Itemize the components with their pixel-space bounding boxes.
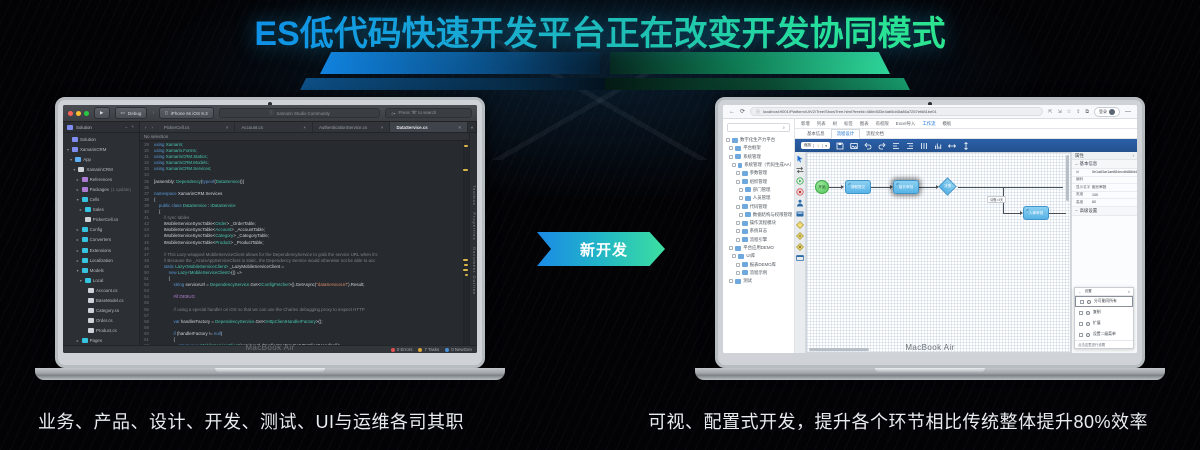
property-value[interactable]: 组长审批 — [1092, 185, 1137, 190]
checkbox-icon[interactable] — [732, 163, 735, 167]
solution-pad-title: Solution — [76, 125, 92, 130]
tree-item[interactable]: Order.cs — [63, 316, 139, 326]
properties-section-basic[interactable]: − 基本信息 — [1072, 160, 1137, 169]
node-label: 人事审批 — [1029, 211, 1043, 216]
file-tab-label: PickerCell.cs — [164, 125, 189, 130]
code-token: { — [154, 209, 160, 214]
module-tab-4[interactable]: 图表 — [860, 121, 869, 127]
code-token: using — [154, 142, 166, 147]
undo-icon[interactable] — [864, 142, 872, 150]
context-menu-items[interactable]: 分可能同所有复制扩展设置二级菜单 — [1075, 296, 1133, 340]
folder-icon — [738, 163, 742, 168]
file-tab-label: AuthenticationService.cs — [319, 125, 367, 130]
property-key: id — [1072, 170, 1092, 174]
chevron-right-icon[interactable]: › — [1133, 153, 1134, 158]
nav-tree-item[interactable]: 流程引擎 — [726, 236, 794, 244]
folder-icon — [742, 229, 748, 234]
radio-icon[interactable] — [1086, 333, 1090, 337]
tree-item[interactable]: ▸References — [63, 174, 139, 184]
gateway-icon[interactable] — [796, 221, 804, 229]
code-token: { — [154, 337, 175, 342]
checkbox-icon[interactable] — [1079, 322, 1083, 326]
nav-tree-label: 测试 — [743, 278, 752, 284]
sub-tab-2[interactable]: 流程文档 — [860, 129, 890, 139]
redo-icon[interactable] — [878, 142, 886, 150]
distribute-center-icon[interactable] — [948, 142, 956, 150]
gateway-cross-icon[interactable] — [796, 243, 804, 251]
nav-tree-item[interactable]: 测试 — [726, 277, 794, 285]
distribute-horizontal-icon[interactable] — [920, 142, 928, 150]
folder-icon — [85, 207, 91, 212]
tree-item[interactable]: Solution — [63, 134, 139, 144]
tree-item[interactable]: ▾Cells — [63, 195, 139, 205]
tree-item[interactable]: ▸Extensions — [63, 245, 139, 255]
checkbox-icon[interactable] — [739, 213, 743, 217]
reload-icon[interactable]: ⟳ — [740, 108, 745, 115]
solution-pad-header: Solution ⌄ × — [63, 122, 140, 132]
align-bars-icon[interactable] — [934, 142, 942, 150]
edge-mgr-gateway — [919, 187, 937, 188]
checkbox-icon[interactable] — [736, 238, 740, 242]
module-tab-1[interactable]: 列表 — [817, 121, 826, 127]
ide-window: ▶ ▭ Debug › ▯ iPhone 6s iOS 9.3 ⓘ Xamari… — [63, 105, 477, 353]
avatar — [1109, 109, 1115, 115]
code-token: IConfigFetcher — [260, 282, 289, 287]
section-label: 基本信息 — [1080, 161, 1098, 167]
file-tab-label: DataService.cs — [396, 125, 427, 130]
close-icon[interactable]: × — [226, 125, 229, 130]
pen-alt-icon[interactable]: ⇲ — [1058, 109, 1062, 115]
checkbox-icon[interactable] — [729, 155, 733, 159]
tree-item[interactable]: Product.cs — [63, 326, 139, 336]
tree-item[interactable]: ▾App — [63, 154, 139, 164]
back-icon[interactable]: ← — [1078, 290, 1082, 294]
nav-tree-label: 平台应用DEMO — [743, 245, 774, 251]
back-icon[interactable]: ← — [729, 109, 735, 115]
designer-area: 请假>3天 开始 ☍ 请假提交 ☍ — [795, 152, 1137, 353]
checkbox-icon[interactable] — [736, 180, 740, 184]
module-tab-6[interactable]: Excel导入 — [896, 121, 916, 127]
checkbox-icon[interactable] — [736, 205, 740, 209]
radio-icon[interactable] — [1086, 322, 1090, 326]
profile-label: 登录 — [1099, 109, 1107, 115]
folder-icon — [82, 227, 88, 232]
context-menu-item-label: 复制 — [1093, 310, 1101, 315]
code-token: null — [214, 331, 221, 336]
arrowhead-icon — [841, 185, 844, 189]
nav-tree-item[interactable]: 系统日志 — [726, 227, 794, 235]
module-tab-3[interactable]: 标签 — [844, 121, 853, 127]
checkbox-icon[interactable] — [736, 271, 740, 275]
minimize-icon[interactable] — [76, 111, 81, 116]
configuration-selector[interactable]: ▭ Debug — [115, 107, 148, 119]
module-tab-bar[interactable]: 新增列表树标签图表有权限Excel导入工作流模板 — [795, 119, 1137, 129]
code-token: (() => — [231, 270, 242, 275]
code-token: handlerFactory = — [181, 319, 215, 324]
phone-icon: ▯ — [165, 110, 168, 116]
window-controls[interactable] — [68, 111, 89, 116]
module-tab-7[interactable]: 工作流 — [922, 121, 935, 127]
tree-item[interactable]: ▾XamarinCRM — [63, 164, 139, 174]
nav-tree-label: 数字化生产力平台 — [740, 137, 775, 143]
pad-buttons[interactable]: ⌄ × — [125, 124, 135, 130]
context-menu-item-3[interactable]: 设置二级菜单 — [1075, 329, 1133, 340]
tree-item[interactable]: ▾Models — [63, 265, 139, 275]
star-icon[interactable]: ☆ — [1067, 109, 1071, 115]
nav-tree-item[interactable]: 人员管理 — [726, 194, 794, 202]
code-token: static — [154, 264, 175, 269]
align-right-icon[interactable] — [906, 142, 914, 150]
code-token: // sync tables — [154, 215, 189, 220]
twisty-icon[interactable]: ▾ — [66, 147, 70, 152]
module-tab-2[interactable]: 树 — [833, 121, 837, 127]
code-token: Lazy<MobileServiceClient> — [178, 270, 231, 275]
nav-tree-item[interactable]: 系统管理（代码生成AA） — [726, 161, 794, 169]
checkbox-icon[interactable] — [1079, 333, 1083, 337]
shape-tool-rail[interactable] — [795, 152, 806, 353]
checkbox-icon[interactable] — [726, 138, 730, 142]
tab-overflow-button[interactable]: » — [468, 122, 477, 132]
property-value[interactable]: 60 — [1092, 200, 1137, 204]
laptop-left: ▶ ▭ Debug › ▯ iPhone 6s iOS 9.3 ⓘ Xamari… — [55, 97, 485, 380]
nav-tree-item[interactable]: 系统管理 — [726, 153, 794, 161]
property-value[interactable]: 100 — [1092, 193, 1137, 197]
nav-back-icon[interactable]: ‹ — [145, 125, 146, 130]
save-icon[interactable] — [836, 142, 844, 150]
workflow-node-hr-approval[interactable]: ☍ 人事审批 — [1023, 206, 1049, 220]
tree-item-label: Product.cs — [96, 328, 117, 333]
property-row[interactable]: 显示名字组长审批 — [1072, 184, 1137, 192]
tree-item-label: Solution — [80, 137, 96, 142]
property-row[interactable]: 编码 — [1072, 177, 1137, 185]
browser-chrome: ← ⟳ ⓘ localhost:9001/Platform/UIV2/Tree/… — [723, 105, 1137, 119]
chevron-down-icon[interactable]: ▾ — [825, 144, 827, 148]
nav-tree-label: 流程示例 — [750, 270, 768, 276]
checkbox-icon[interactable] — [729, 279, 733, 283]
nav-tree-item[interactable]: 数据结构与权限管理 — [726, 211, 794, 219]
context-menu-item-2[interactable]: 扩展 — [1075, 318, 1133, 329]
search-input[interactable]: ⌕▾ Press '⌘' to search — [385, 108, 472, 118]
edge-gateway-end — [958, 187, 1063, 188]
site-info-icon[interactable]: ⓘ — [756, 109, 760, 115]
sub-tab-0[interactable]: 基本信息 — [801, 129, 831, 139]
code-token: using — [154, 154, 166, 159]
tree-item-label: Converters — [90, 237, 111, 242]
ide-toolbar: ▶ ▭ Debug › ▯ iPhone 6s iOS 9.3 ⓘ Xamari… — [63, 105, 477, 122]
tree-item[interactable]: ▸Sales — [63, 205, 139, 215]
nav-tree-item[interactable]: 平台应用DEMO — [726, 244, 794, 252]
workflow-node-gateway[interactable]: 决策 — [938, 177, 956, 195]
twisty-icon[interactable]: ▸ — [76, 258, 80, 263]
browser-window: ← ⟳ ⓘ localhost:9001/Platform/UIV2/Tree/… — [723, 105, 1137, 353]
url-input[interactable]: ⓘ localhost:9001/Platform/UIV2/Tree/Show… — [750, 107, 1043, 116]
nav-tree-item[interactable]: 参数管理 — [726, 169, 794, 177]
file-icon — [88, 328, 94, 333]
code-token: using — [154, 160, 166, 165]
twisty-icon[interactable]: ▾ — [76, 197, 80, 202]
nav-tree-item[interactable]: 代码管理 — [726, 202, 794, 210]
code-token: namespace — [154, 191, 178, 196]
workflow-node-start[interactable]: 开始 — [815, 180, 829, 194]
user-icon: ☍ — [1026, 208, 1029, 212]
close-icon[interactable] — [68, 111, 73, 116]
folder-icon — [742, 179, 748, 184]
tree-item[interactable]: ▾Local — [63, 275, 139, 285]
caption-left: 业务、产品、设计、开发、测试、UI与运维各司其职 — [38, 408, 464, 434]
run-button[interactable]: ▶ — [94, 107, 110, 119]
tree-item[interactable]: ▸Converters — [63, 235, 139, 245]
align-vertical-icon[interactable] — [962, 142, 970, 150]
module-tab-5[interactable]: 有权限 — [876, 121, 889, 127]
checkbox-icon[interactable] — [739, 196, 743, 200]
property-row[interactable]: 高度60 — [1072, 199, 1137, 207]
line-number-gutter: 2930313233343536373839404142434445464748… — [140, 141, 151, 345]
image-icon[interactable] — [850, 142, 858, 150]
code-token: if — [154, 331, 177, 336]
maximize-icon[interactable] — [84, 111, 89, 116]
cursor-icon[interactable] — [796, 155, 804, 163]
nav-tree-label: 参数管理 — [750, 170, 768, 176]
share-icon[interactable]: ⇪ — [1076, 109, 1080, 115]
nav-tree-item[interactable]: 组织管理 — [726, 177, 794, 185]
file-tab-2[interactable]: AuthenticationService.cs× — [313, 122, 391, 132]
nav-tree-item[interactable]: UI库 — [726, 252, 794, 260]
property-key: 编码 — [1072, 177, 1092, 182]
twisty-icon[interactable]: ▸ — [79, 207, 83, 212]
device-selector[interactable]: ▯ iPhone 6s iOS 9.3 — [159, 107, 214, 119]
nav-tree-label: 代码管理 — [750, 204, 768, 210]
context-menu-header: ← 设置 × — [1075, 288, 1133, 296]
collapse-icon[interactable]: − — [1075, 208, 1078, 213]
checkbox-icon[interactable] — [1080, 300, 1084, 304]
radio-icon[interactable] — [1086, 311, 1090, 315]
code-token: DataService — [216, 179, 240, 184]
close-icon[interactable]: × — [458, 125, 461, 130]
collapse-icon[interactable]: − — [1075, 162, 1078, 167]
zoom-control[interactable]: 缩放 1 ▾ — [801, 142, 830, 149]
context-menu-item-label: 分可能同所有 — [1094, 299, 1117, 304]
file-icon — [78, 167, 84, 172]
context-menu-item-0[interactable]: 分可能同所有 — [1075, 296, 1133, 307]
twisty-icon[interactable]: ▸ — [76, 187, 80, 192]
code-token: XamarinCRM.Services; — [166, 166, 212, 171]
tree-item[interactable]: Category.cs — [63, 306, 139, 316]
editor-minimap[interactable] — [463, 141, 469, 345]
sub-tab-1[interactable]: 流程设计 — [831, 129, 861, 139]
profile-button[interactable]: 登录 — [1094, 107, 1120, 117]
property-value[interactable]: 5e1a83ar1ae884ecdb886d41182ae7 — [1092, 170, 1137, 174]
ide-status-text: Xamarin Studio Community — [276, 111, 329, 116]
nav-tree-label: 部门管理 — [753, 187, 771, 193]
ribbon-green-bottom — [605, 78, 910, 90]
property-row[interactable]: id5e1a83ar1ae884ecdb886d41182ae7 — [1072, 169, 1137, 177]
start-icon[interactable] — [796, 177, 804, 185]
nav-tree-label: 系统管理 — [743, 154, 761, 160]
context-menu-item-1[interactable]: 复制 — [1075, 307, 1133, 318]
checkbox-icon[interactable] — [736, 221, 740, 225]
tab-overflow-icon: » — [471, 125, 473, 130]
nav-tree-label: 报表DEMO库 — [750, 262, 776, 268]
file-icon — [88, 318, 94, 323]
file-tab-0[interactable]: PickerCell.cs× — [158, 122, 236, 132]
tree-item[interactable]: ▸Packages (1 update) — [63, 184, 139, 194]
twisty-icon[interactable]: ▾ — [72, 167, 76, 172]
property-key: 高度 — [1072, 200, 1092, 205]
tree-item-label: Cells — [90, 197, 100, 202]
pen-icon[interactable]: ⇱ — [1048, 109, 1052, 115]
checkbox-icon[interactable] — [736, 229, 740, 233]
twisty-icon[interactable]: ▾ — [76, 268, 80, 273]
ide-right-rail[interactable]: Toolbox · Properties · Document Outline — [469, 133, 477, 345]
checkbox-icon[interactable] — [736, 171, 740, 175]
file-tab-strip[interactable]: PickerCell.cs×Account.cs×AuthenticationS… — [158, 122, 468, 132]
tree-item-label: BaseModel.cs — [96, 298, 124, 303]
close-icon[interactable]: × — [1128, 290, 1130, 294]
folder-icon — [735, 154, 741, 159]
twisty-icon[interactable]: ▸ — [76, 227, 80, 232]
device-window-icon: ▭ — [121, 110, 125, 116]
tree-item[interactable]: ▾XamarinCRM — [63, 144, 139, 154]
tree-item-label: Models — [90, 268, 104, 273]
tree-item[interactable]: Account.cs — [63, 285, 139, 295]
code-token: .Get< — [249, 282, 260, 287]
twisty-icon[interactable]: ▸ — [76, 248, 80, 253]
align-left-icon[interactable] — [892, 142, 900, 150]
subprocess-icon[interactable] — [796, 210, 804, 218]
close-icon[interactable]: × — [381, 125, 384, 130]
context-menu-title: 设置 — [1085, 289, 1092, 294]
twisty-icon[interactable]: ▸ — [76, 177, 80, 182]
folder-icon — [82, 237, 88, 242]
browser-actions[interactable]: ⇱⇲☆⇪⧉ — [1048, 109, 1089, 115]
checkbox-icon[interactable] — [1079, 311, 1083, 315]
tree-item[interactable]: PickerCell.cs — [63, 215, 139, 225]
nav-tree-item[interactable]: 报表DEMO库 — [726, 260, 794, 268]
user-icon: ☍ — [848, 182, 851, 186]
container-icon[interactable] — [796, 254, 804, 262]
minimize-icon[interactable]: — — [1125, 109, 1131, 115]
close-icon[interactable]: × — [303, 125, 306, 130]
checkbox-icon[interactable] — [739, 188, 743, 192]
twisty-icon[interactable]: ▾ — [69, 157, 73, 162]
ribbon-blue-bottom — [300, 78, 605, 90]
tree-item[interactable]: ▸Localization — [63, 255, 139, 265]
code-area[interactable]: 2930313233343536373839404142434445464748… — [140, 141, 469, 345]
workflow-canvas[interactable]: 请假>3天 开始 ☍ 请假提交 ☍ — [806, 152, 1071, 353]
code-token: { — [154, 197, 155, 202]
twisty-icon[interactable]: ▸ — [76, 237, 80, 242]
end-icon[interactable] — [796, 188, 804, 196]
tree-item[interactable]: BaseModel.cs — [63, 296, 139, 306]
code-editor[interactable]: No selection 293031323334353637383940414… — [140, 133, 469, 345]
tree-search-input[interactable]: ⌕ — [727, 123, 790, 132]
checkbox-icon[interactable] — [736, 263, 740, 267]
property-row[interactable]: 宽度100 — [1072, 192, 1137, 200]
solution-tree[interactable]: Solution▾XamarinCRM▾App▾XamarinCRM▸Refer… — [63, 133, 140, 345]
workflow-node-manager-approval[interactable]: ☍ 组长审批 — [893, 180, 919, 194]
tree-item-label: Account.cs — [96, 288, 117, 293]
radio-icon[interactable] — [1087, 300, 1091, 304]
info-icon: ⓘ — [269, 110, 273, 116]
ide-body: Solution▾XamarinCRM▾App▾XamarinCRM▸Refer… — [63, 133, 477, 345]
context-menu-item-label: 扩展 — [1093, 321, 1101, 326]
tree-item-label: App — [83, 157, 91, 162]
code-token: serviceUrl = — [185, 282, 210, 287]
folder-icon — [742, 171, 748, 176]
tree-item[interactable]: ▸Config — [63, 225, 139, 235]
section-label: 高级设置 — [1080, 208, 1098, 214]
nav-tree-item[interactable]: 平台框架 — [726, 144, 794, 152]
designer-toolbar[interactable]: 缩放 1 ▾ — [795, 139, 1137, 152]
properties-section-advanced[interactable]: − 高级设置 — [1072, 207, 1137, 216]
context-menu[interactable]: ← 设置 × 分可能同所有复制扩展设置二级菜单 点击这里进行设置 — [1074, 287, 1134, 349]
folder-icon — [742, 262, 748, 267]
node-label: 请假提交 — [851, 185, 865, 190]
sol-icon — [72, 147, 78, 152]
workflow-node-submit[interactable]: ☍ 请假提交 — [845, 180, 871, 194]
file-tab-1[interactable]: Account.cs× — [235, 122, 313, 132]
code-token: string — [154, 282, 185, 287]
laptop-left-lid: ▶ ▭ Debug › ▯ iPhone 6s iOS 9.3 ⓘ Xamari… — [55, 97, 485, 368]
code-token: ))] — [240, 179, 244, 184]
gateway-plus-icon[interactable] — [796, 232, 804, 240]
checkbox-icon[interactable] — [729, 146, 733, 150]
nav-tree-item[interactable]: 部门管理 — [726, 186, 794, 194]
editor-nav-arrows[interactable]: ‹ › — [140, 122, 158, 132]
code-token: ) — [221, 331, 222, 336]
code-token: Xamarin; — [166, 142, 184, 147]
source-code[interactable]: using Xamarin;using Xamarin.Forms;using … — [151, 141, 463, 345]
code-token: IHttpClientHandlerFactory — [265, 319, 316, 324]
laptop-left-screen: ▶ ▭ Debug › ▯ iPhone 6s iOS 9.3 ⓘ Xamari… — [63, 105, 477, 353]
twisty-icon[interactable]: ▾ — [79, 278, 83, 283]
sub-tab-bar[interactable]: 基本信息流程设计流程文档 — [795, 129, 1137, 139]
property-key: 宽度 — [1072, 192, 1092, 197]
nav-tree-label: 流程引擎 — [750, 237, 768, 243]
user-task-icon[interactable] — [796, 199, 804, 207]
checkbox-icon[interactable] — [729, 246, 733, 250]
properties-title: 属性 — [1075, 153, 1084, 159]
code-token: typeof — [202, 179, 214, 184]
nav-tree-item[interactable]: 流程示例 — [726, 269, 794, 277]
nav-tree-item[interactable]: 操作流程模块 — [726, 219, 794, 227]
nav-tree-label: 系统日志 — [750, 228, 768, 234]
code-token: using — [154, 166, 166, 171]
code-token: IMobileServiceSyncTable< — [154, 221, 215, 226]
tree-item-label: Sales — [93, 207, 104, 212]
module-tab-8[interactable]: 模板 — [943, 121, 952, 127]
zoom-value: 1 — [813, 144, 823, 148]
nav-forward-icon[interactable]: › — [151, 125, 152, 130]
code-token: IDataService — [210, 203, 235, 208]
app-nav-tree[interactable]: 数字化生产力平台平台框架系统管理系统管理（代码生成AA）参数管理组织管理部门管理… — [723, 136, 794, 353]
canvas-vscrollbar[interactable] — [1066, 155, 1069, 201]
code-token: (handlerFactory != — [177, 331, 214, 336]
module-tab-0[interactable]: 新增 — [801, 121, 810, 127]
file-icon — [88, 288, 94, 293]
file-tab-3[interactable]: DataService.cs× — [390, 122, 468, 132]
code-token: { — [154, 276, 170, 281]
ide-status-field: ⓘ Xamarin Studio Community — [219, 108, 381, 118]
extensions-icon[interactable]: ⧉ — [1085, 109, 1089, 115]
device-label: iPhone 6s iOS 9.3 — [171, 111, 208, 116]
nav-tree-item[interactable]: 数字化生产力平台 — [726, 136, 794, 144]
code-token: XamarinCRM.Models; — [166, 160, 209, 165]
connector-icon[interactable] — [796, 166, 804, 174]
code-token: // using a special handler on iOS so tha… — [154, 307, 365, 312]
checkbox-icon[interactable] — [732, 254, 736, 258]
tree-item-label: Local — [93, 278, 104, 283]
